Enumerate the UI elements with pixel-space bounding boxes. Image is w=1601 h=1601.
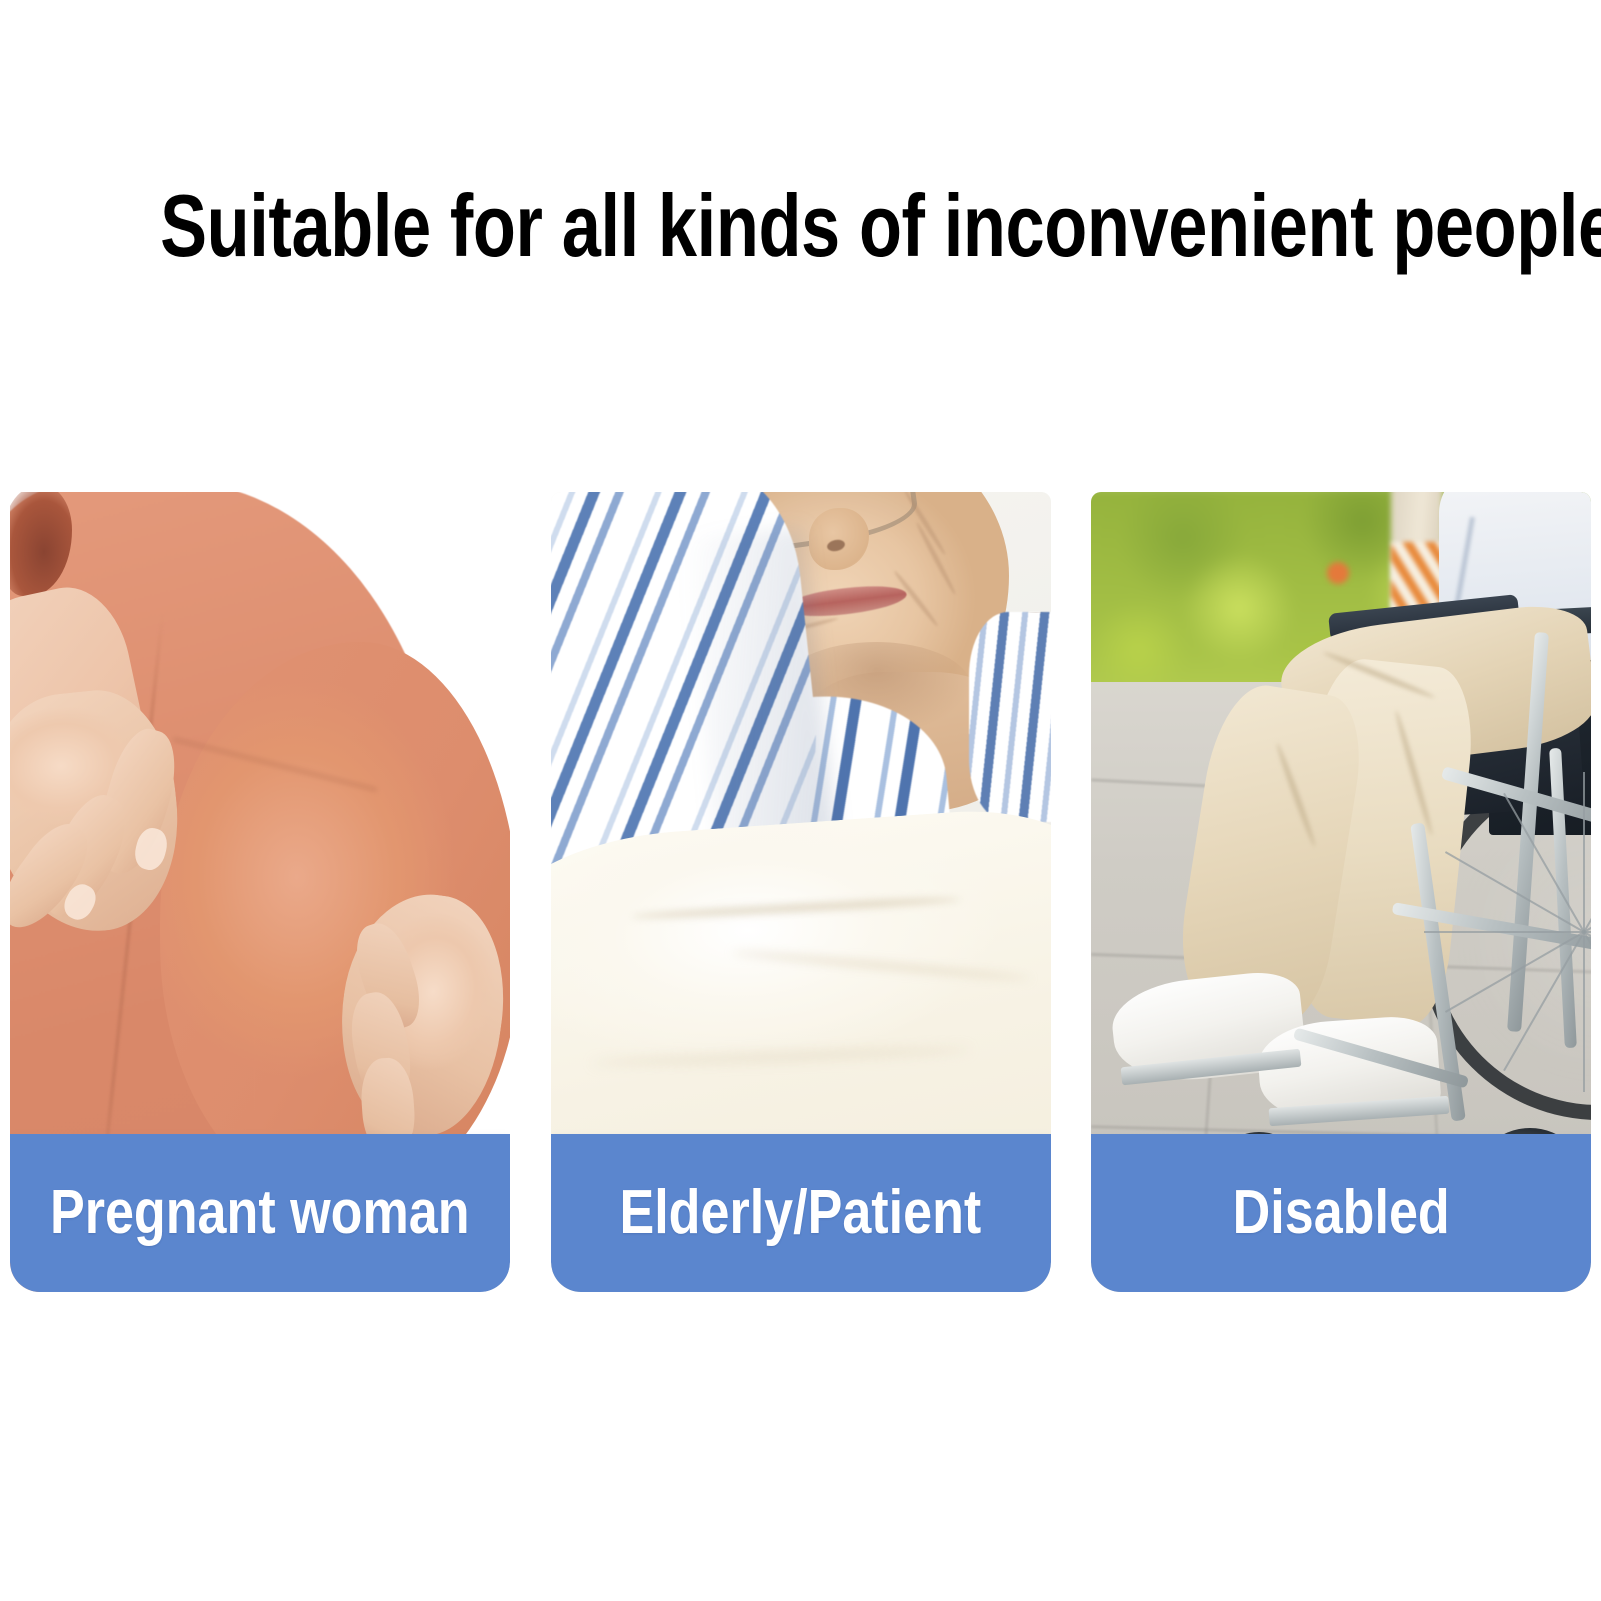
panel-disabled[interactable]: Disabled — [1091, 492, 1591, 1292]
wheel-spoke — [1424, 931, 1584, 933]
panel-elderly-patient[interactable]: Elderly/Patient — [551, 492, 1051, 1292]
panel-pregnant-woman[interactable]: Pregnant woman — [10, 492, 510, 1292]
product-infographic: Suitable for all kinds of inconvenient p… — [0, 0, 1601, 1601]
striped-pajama-right — [969, 612, 1051, 822]
page-title: Suitable for all kinds of inconvenient p… — [160, 178, 1441, 274]
caption-label: Disabled — [1232, 1182, 1449, 1244]
caption-bar-disabled: Disabled — [1091, 1134, 1591, 1292]
caption-label: Pregnant woman — [50, 1182, 470, 1244]
audience-panel-row: Pregnant woman — [10, 492, 1591, 1292]
caption-bar-elderly-patient: Elderly/Patient — [551, 1134, 1051, 1292]
wheel-spoke — [1583, 772, 1585, 932]
caption-bar-pregnant-woman: Pregnant woman — [10, 1134, 510, 1292]
caption-label: Elderly/Patient — [620, 1182, 982, 1244]
background-dot — [1327, 562, 1349, 584]
wheel-spoke — [1583, 932, 1585, 1092]
